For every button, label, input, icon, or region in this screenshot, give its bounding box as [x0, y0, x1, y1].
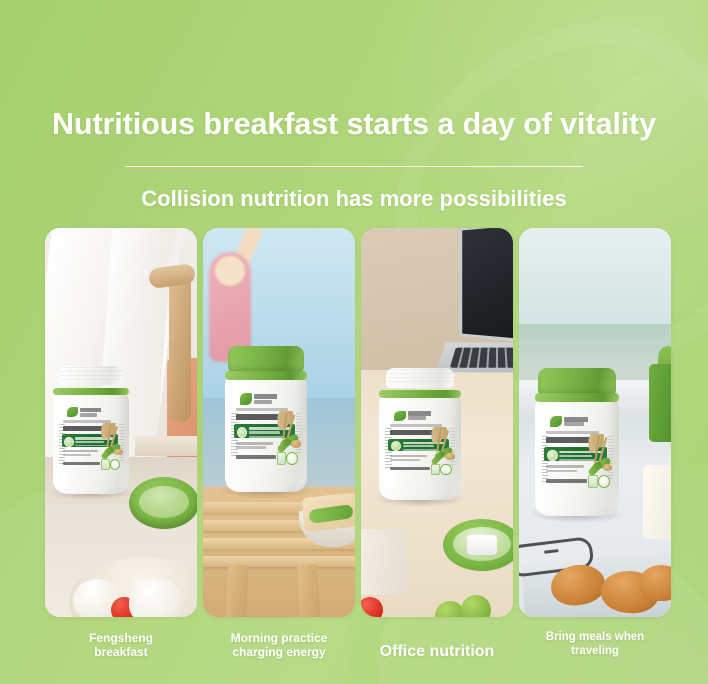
- label-brand-cn-text: [254, 400, 273, 404]
- jar-green-ring: [379, 390, 461, 398]
- title-divider: [125, 166, 583, 167]
- plant-pot-shape: [649, 364, 671, 442]
- pallet-leg-2: [297, 565, 320, 617]
- jar-green-ring: [225, 371, 307, 380]
- label-net-weight: [546, 479, 587, 483]
- scene-image-fengsheng-breakfast: [45, 228, 197, 617]
- scene-card-morning-practice[interactable]: [203, 228, 355, 617]
- label-brand-text: [80, 408, 115, 412]
- certification-badge-2-icon: [101, 459, 110, 470]
- label-brand-cn-text: [408, 416, 427, 420]
- label-footer-line1: [63, 450, 98, 452]
- jar-label: [58, 404, 125, 476]
- caption-morning-practice: Morning practicecharging energy: [203, 617, 355, 677]
- label-brand-text: [408, 411, 446, 415]
- caption-line-1: Fengsheng: [89, 631, 153, 645]
- caption-office-nutrition: Office nutrition: [361, 617, 513, 677]
- jar-green-cap: [228, 346, 303, 372]
- pallet-leg-1: [225, 565, 248, 617]
- label-brand-text: [254, 394, 292, 399]
- jar-green-cap: [538, 368, 615, 395]
- promo-banner: Nutritious breakfast starts a day of vit…: [0, 0, 708, 684]
- certification-badge-2-icon: [431, 464, 440, 476]
- measuring-scoop-shape: [467, 535, 497, 555]
- label-seal-icon: [391, 441, 401, 451]
- leaf-logo-icon: [240, 393, 252, 404]
- jar-label: [540, 412, 614, 495]
- laptop-keyboard-shape: [450, 348, 513, 368]
- label-seal-icon: [547, 450, 557, 461]
- shelf-shape: [135, 436, 197, 456]
- scene-image-office-nutrition: [361, 228, 513, 617]
- jar-label: [230, 390, 302, 472]
- jar-green-ring: [53, 388, 129, 396]
- product-jar: [53, 366, 129, 494]
- label-brand-cn-text: [80, 413, 97, 417]
- jar-label: [384, 408, 456, 482]
- scene-card-office-nutrition[interactable]: [361, 228, 513, 617]
- white-cup-shape: [361, 529, 407, 595]
- label-footer-line2: [390, 459, 420, 461]
- leaf-logo-icon: [394, 411, 406, 421]
- wooden-post-shape: [169, 272, 191, 422]
- label-seal-icon: [237, 427, 247, 438]
- caption-line-2: charging energy: [232, 645, 325, 659]
- certification-badge-2-icon: [588, 475, 597, 488]
- certification-badge-2-icon: [277, 452, 286, 465]
- caption-line-1: Bring meals when: [546, 631, 644, 643]
- label-footer-line2: [546, 470, 577, 472]
- caption-line-1: Morning practice: [231, 631, 328, 645]
- label-seal-icon: [64, 437, 73, 447]
- pallet-slat-4: [203, 556, 355, 567]
- certification-badge-icon: [440, 464, 451, 476]
- label-brand-cn-text: [564, 422, 583, 426]
- scene-image-morning-practice: [203, 228, 355, 617]
- page-title: Nutritious breakfast starts a day of vit…: [0, 107, 708, 142]
- caption-bring-meals-traveling: Bring meals whentraveling: [519, 617, 671, 677]
- leaf-logo-icon: [550, 416, 562, 428]
- caption-line-1: Office nutrition: [380, 643, 495, 662]
- label-net-weight: [236, 455, 276, 459]
- scene-image-bring-meals-traveling: [519, 228, 671, 617]
- product-jar: [379, 368, 461, 500]
- caption-line-2: breakfast: [94, 645, 147, 659]
- nut-illustration: [445, 453, 454, 460]
- product-jar: [535, 368, 619, 516]
- bread-roll-3: [639, 565, 671, 601]
- label-footer-line2: [236, 446, 266, 448]
- jar-green-ring: [535, 393, 619, 402]
- label-footer-line1: [390, 455, 428, 457]
- certification-badge-icon: [286, 452, 297, 465]
- person-head-shape: [215, 256, 245, 286]
- label-footer-line2: [63, 454, 91, 456]
- leaf-logo-icon: [67, 407, 78, 417]
- laptop-screen-shape: [460, 228, 513, 344]
- caption-line-2: traveling: [571, 645, 619, 657]
- label-net-weight: [390, 467, 430, 471]
- page-subtitle: Collision nutrition has more possibiliti…: [0, 186, 708, 212]
- jar-neck-threads: [386, 369, 455, 385]
- green-grape-2: [461, 595, 491, 617]
- caption-fengsheng-breakfast: Fengshengbreakfast: [45, 617, 197, 677]
- nut-illustration: [291, 440, 300, 447]
- product-jar: [225, 346, 307, 492]
- green-lid-inner-shape: [139, 486, 189, 518]
- label-net-weight: [63, 462, 100, 466]
- milk-bottle-shape: [643, 465, 671, 539]
- certification-badge-icon: [110, 459, 121, 470]
- caption-row: Fengshengbreakfast Morning practicecharg…: [45, 617, 671, 684]
- certification-badge-icon: [598, 475, 610, 488]
- scene-card-fengsheng-breakfast[interactable]: [45, 228, 197, 617]
- product-scene-grid: [45, 228, 671, 617]
- label-brand-text: [564, 417, 602, 422]
- label-footer-line1: [546, 465, 584, 467]
- label-footer-line1: [236, 442, 274, 444]
- jar-neck-threads: [59, 367, 123, 382]
- scene-card-bring-meals-traveling[interactable]: [519, 228, 671, 617]
